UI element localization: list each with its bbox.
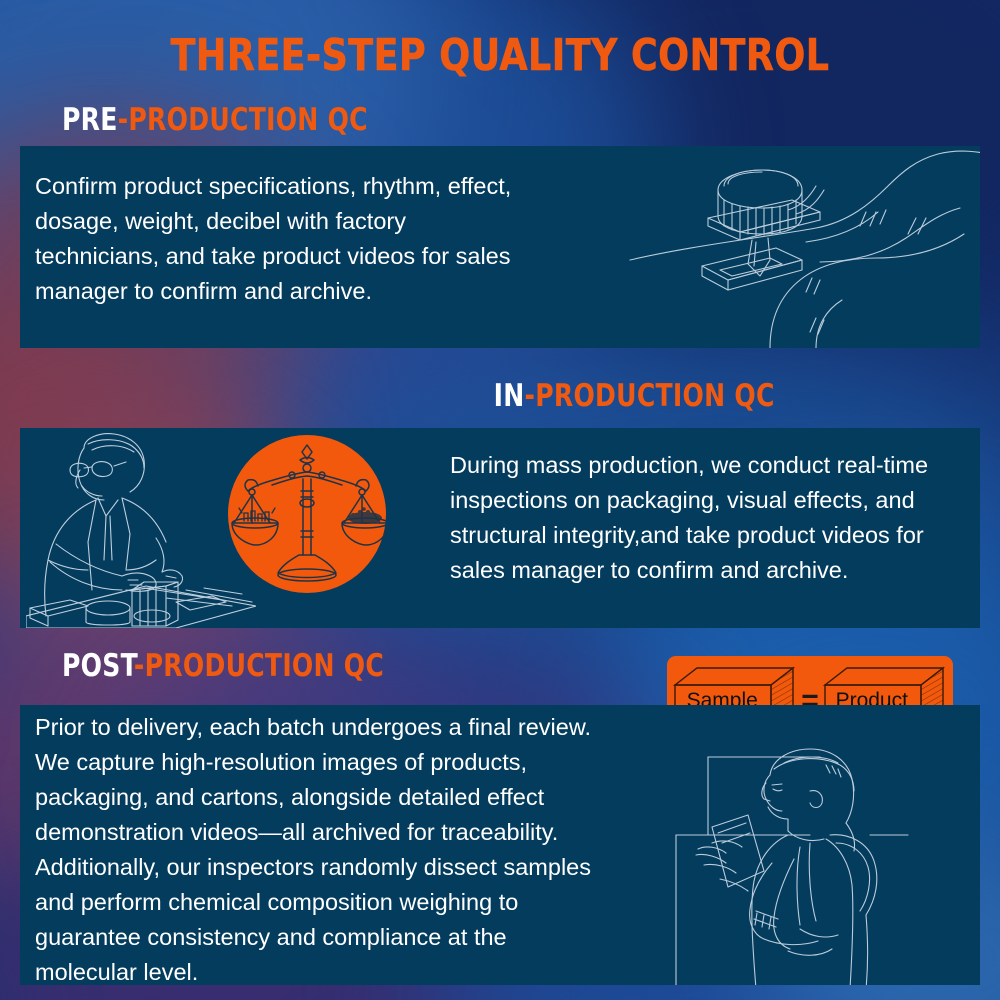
panel-pre-production: Confirm product specifications, rhythm, … — [20, 146, 980, 348]
step-heading-post-production: POST-PRODUCTION QC — [62, 648, 384, 684]
step-heading-post-suffix: -PRODUCTION QC — [134, 648, 384, 684]
page-title: THREE-STEP QUALITY CONTROL — [40, 30, 960, 81]
panel-post-production: Prior to delivery, each batch undergoes … — [20, 705, 980, 985]
hand-holding-product-sketch — [620, 146, 980, 348]
step-body-post-production: Prior to delivery, each batch undergoes … — [35, 710, 675, 985]
step-heading-pre-production: PRE-PRODUCTION QC — [62, 102, 368, 138]
step-heading-pre-suffix: -PRODUCTION QC — [118, 102, 368, 138]
step-heading-in-production: IN-PRODUCTION QC — [494, 378, 775, 414]
man-with-tablet-sketch — [660, 739, 980, 985]
step-heading-pre-prefix: PRE — [62, 102, 118, 138]
step-body-pre-production: Confirm product specifications, rhythm, … — [35, 169, 595, 309]
step-body-in-production: During mass production, we conduct real-… — [450, 448, 980, 588]
step-heading-in-prefix: IN — [494, 378, 525, 414]
step-heading-post-prefix: POST — [62, 648, 134, 684]
worker-inspecting-products-sketch — [26, 430, 256, 628]
balance-scale-badge — [228, 435, 386, 593]
panel-in-production: During mass production, we conduct real-… — [20, 428, 980, 628]
step-heading-in-suffix: -PRODUCTION QC — [524, 378, 774, 414]
